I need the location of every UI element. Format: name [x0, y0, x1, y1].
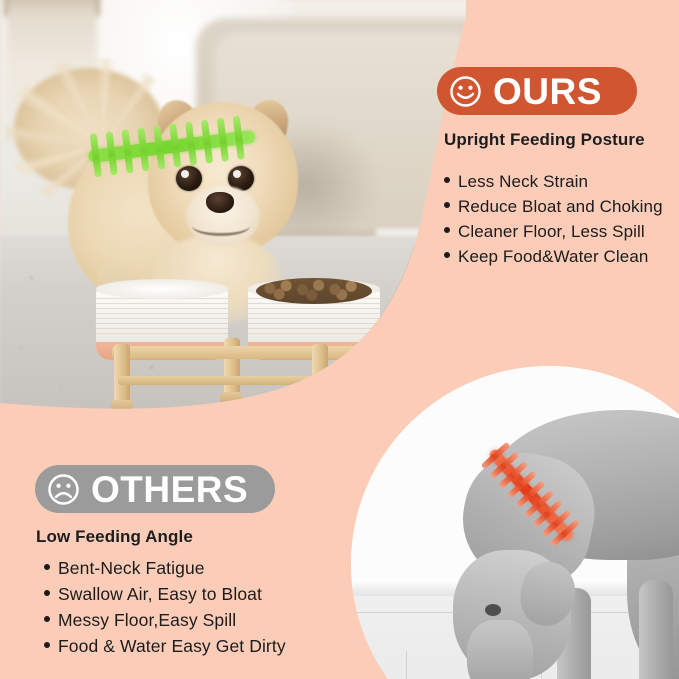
frowning-face-icon: [47, 473, 80, 506]
list-item: Food & Water Easy Get Dirty: [44, 636, 286, 662]
ours-badge: OURS: [437, 67, 637, 115]
stand-rail: [112, 346, 380, 359]
large-dog: [371, 392, 679, 679]
bullet-dot-icon: [444, 202, 450, 208]
list-item: Reduce Bloat and Choking: [444, 197, 663, 222]
top-photo-scene: [0, 0, 466, 422]
list-item: Cleaner Floor, Less Spill: [444, 222, 663, 247]
bullet-dot-icon: [444, 177, 450, 183]
list-item-label: Food & Water Easy Get Dirty: [58, 636, 286, 657]
large-dog-bending-to-floor-bowl-photo: [351, 366, 679, 679]
stand-foot: [111, 400, 133, 414]
dog-hind-leg: [639, 580, 673, 679]
list-item: Bent-Neck Fatigue: [44, 558, 286, 584]
list-item-label: Bent-Neck Fatigue: [58, 558, 205, 579]
pomeranian-eating-from-elevated-bowls-photo: [0, 0, 466, 422]
others-subtitle: Low Feeding Angle: [36, 527, 193, 547]
stand-foot: [220, 392, 242, 406]
stand-leg: [312, 344, 328, 414]
bullet-dot-icon: [44, 590, 50, 596]
list-item-label: Keep Food&Water Clean: [458, 247, 648, 267]
list-item-label: Less Neck Strain: [458, 172, 588, 192]
dog-mouth: [192, 216, 250, 236]
stand-foot: [309, 400, 331, 414]
smiley-face-icon: [449, 75, 482, 108]
bullet-dot-icon: [444, 252, 450, 258]
stand-crossbar: [118, 376, 376, 385]
list-item: Messy Floor,Easy Spill: [44, 610, 286, 636]
dog-snout: [467, 620, 533, 679]
ours-badge-label: OURS: [493, 73, 602, 110]
bullet-dot-icon: [44, 616, 50, 622]
list-item-label: Swallow Air, Easy to Bloat: [58, 584, 262, 605]
list-item: Less Neck Strain: [444, 172, 663, 197]
bullet-dot-icon: [444, 227, 450, 233]
infographic-canvas: OURS Upright Feeding Posture Less Neck S…: [0, 0, 679, 679]
list-item: Swallow Air, Easy to Bloat: [44, 584, 286, 610]
kibble-food: [256, 278, 372, 304]
list-item: Keep Food&Water Clean: [444, 247, 663, 272]
dog-eye: [485, 604, 501, 616]
ours-subtitle: Upright Feeding Posture: [444, 130, 645, 150]
bullet-dot-icon: [44, 642, 50, 648]
others-badge-label: OTHERS: [91, 471, 248, 508]
others-drawback-list: Bent-Neck Fatigue Swallow Air, Easy to B…: [44, 558, 286, 662]
list-item-label: Messy Floor,Easy Spill: [58, 610, 236, 631]
bullet-dot-icon: [44, 564, 50, 570]
others-badge: OTHERS: [35, 465, 275, 513]
dog-eye-glint: [233, 170, 241, 178]
list-item-label: Cleaner Floor, Less Spill: [458, 222, 645, 242]
dog-nose: [206, 192, 234, 213]
list-item-label: Reduce Bloat and Choking: [458, 197, 663, 217]
ours-benefit-list: Less Neck Strain Reduce Bloat and Chokin…: [444, 172, 663, 272]
